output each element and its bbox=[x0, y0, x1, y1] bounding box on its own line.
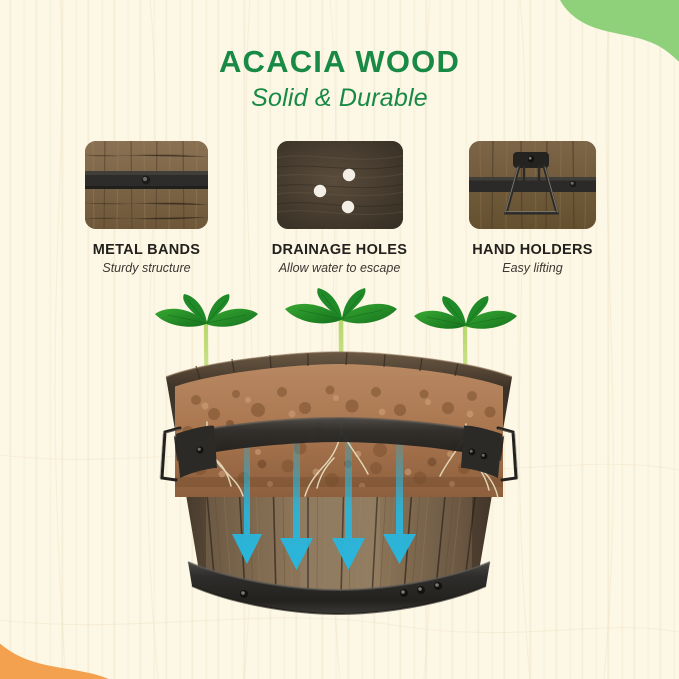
feature-list: METAL BANDS Sturdy structure bbox=[60, 141, 619, 275]
feature-title: METAL BANDS bbox=[93, 242, 200, 258]
wood-panel-with-metal-handle-icon bbox=[469, 141, 596, 229]
page-subtitle: Solid & Durable bbox=[0, 85, 679, 113]
product-illustration bbox=[0, 282, 679, 642]
hand-holders-thumbnail bbox=[469, 141, 596, 229]
barrel-planter-graphic bbox=[0, 282, 679, 642]
headline-block: ACACIA WOOD Solid & Durable bbox=[0, 46, 679, 112]
feature-drainage-holes: DRAINAGE HOLES Allow water to escape bbox=[253, 141, 426, 275]
metal-bands-thumbnail bbox=[85, 141, 208, 229]
feature-title: DRAINAGE HOLES bbox=[272, 242, 408, 258]
feature-subtitle: Easy lifting bbox=[502, 261, 562, 275]
feature-subtitle: Allow water to escape bbox=[279, 261, 401, 275]
feature-subtitle: Sturdy structure bbox=[102, 261, 190, 275]
feature-metal-bands: METAL BANDS Sturdy structure bbox=[60, 141, 233, 275]
infographic-canvas: ACACIA WOOD Solid & Durable bbox=[0, 0, 679, 679]
wood-base-with-drainage-holes-icon bbox=[277, 141, 403, 229]
drainage-holes-thumbnail bbox=[277, 141, 403, 229]
feature-hand-holders: HAND HOLDERS Easy lifting bbox=[446, 141, 619, 275]
feature-title: HAND HOLDERS bbox=[472, 242, 592, 258]
wood-panel-with-metal-band-icon bbox=[85, 141, 208, 229]
page-title: ACACIA WOOD bbox=[0, 46, 679, 79]
